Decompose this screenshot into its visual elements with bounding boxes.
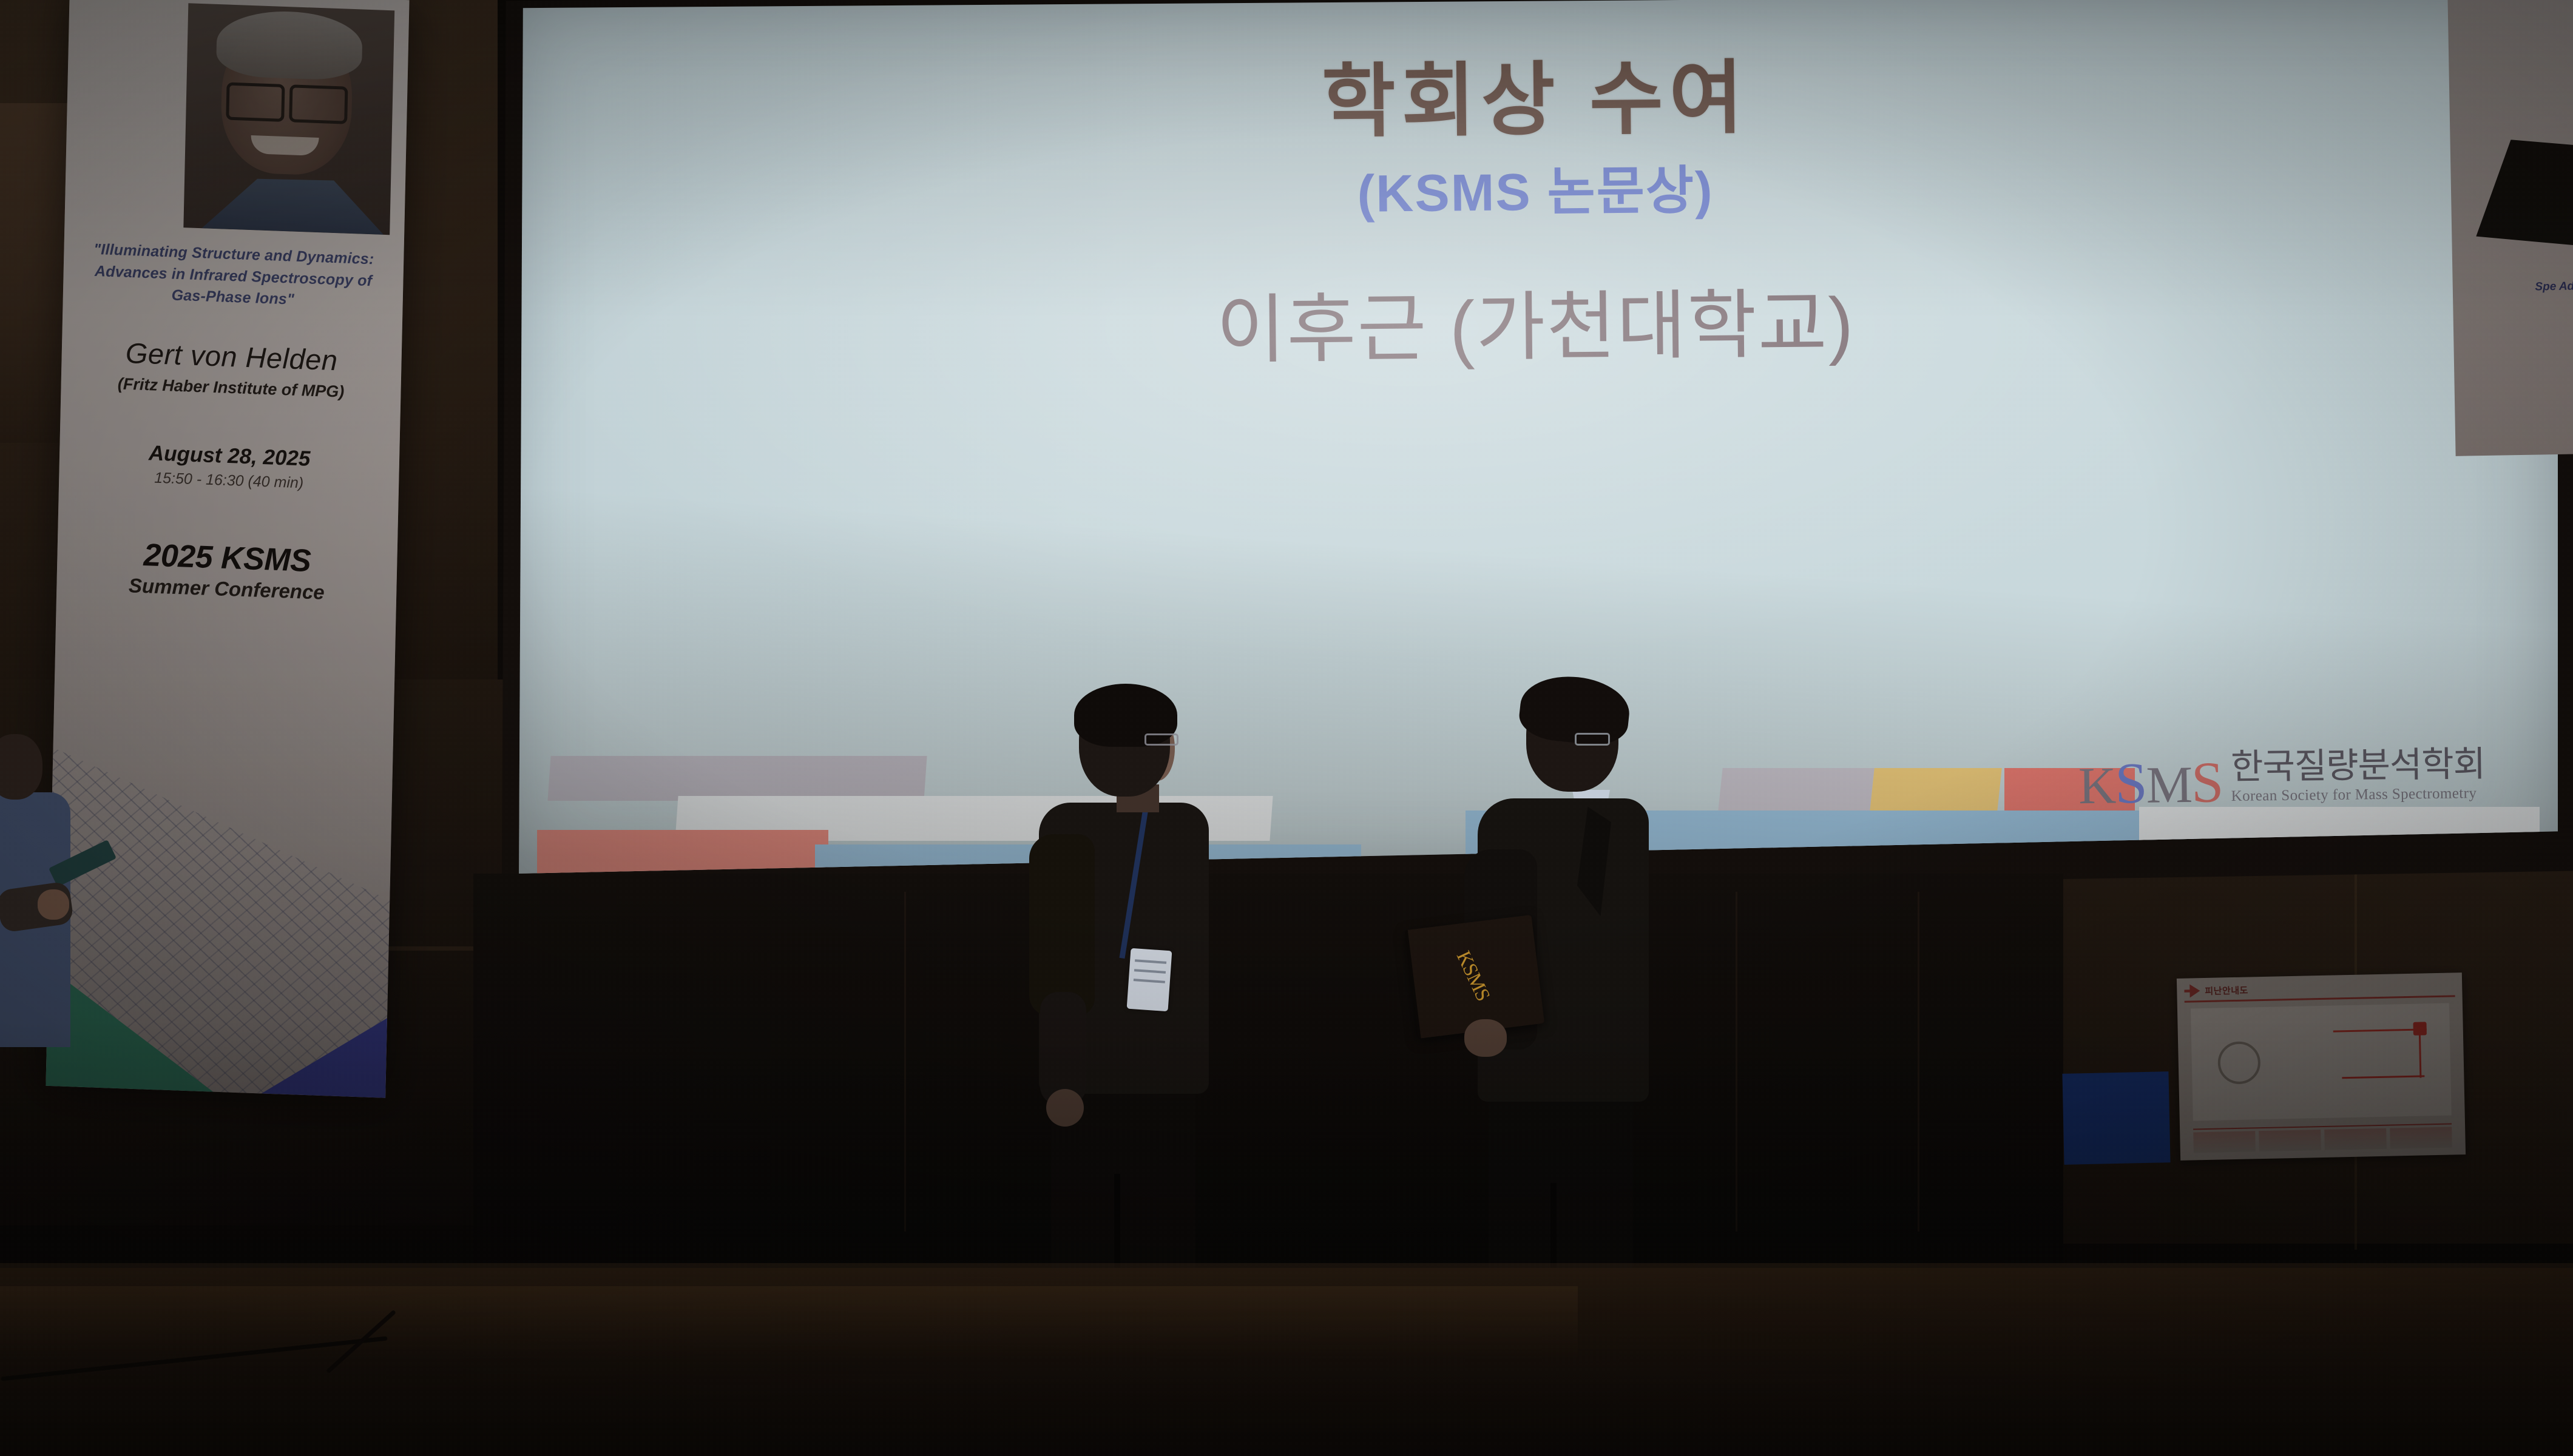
- presenter-badge: [1127, 948, 1172, 1011]
- deco-block-grey: [547, 756, 927, 801]
- presenter-sleeve: [1029, 834, 1095, 1016]
- curtain-seam-4: [1918, 892, 1919, 1232]
- evacuation-map-sign: 피난안내도: [2177, 972, 2466, 1161]
- evacuation-sign-title: 피난안내도: [2205, 983, 2248, 997]
- right-banner-photo: [2475, 138, 2573, 249]
- you-are-here-marker: [2413, 1022, 2427, 1035]
- presenter-glasses-icon: [1144, 733, 1178, 746]
- presenter-forearm: [1040, 992, 1086, 1105]
- award-plaque-text: KSMS: [1452, 948, 1494, 1004]
- escape-route-segment-2: [2419, 1028, 2422, 1077]
- slide-recipient-name: 이후근 (가천대학교): [513, 256, 2558, 385]
- legend-column: [2193, 1131, 2256, 1153]
- ksms-letter-s2: S: [2191, 749, 2223, 815]
- speaker-banner-left: "Illuminating Structure and Dynamics: Ad…: [46, 0, 409, 1098]
- floor-reflection: [0, 1286, 1578, 1359]
- legend-column: [2324, 1128, 2387, 1150]
- audience-head: [0, 734, 42, 800]
- ksms-logo-mark: KSMS: [2078, 755, 2222, 811]
- award-plaque: KSMS: [1405, 915, 1544, 1039]
- ksms-letter-s1: S: [2114, 750, 2146, 815]
- legend-column: [2390, 1127, 2452, 1149]
- stage-backdrop: [473, 874, 2063, 1298]
- right-banner-text: Spe Add: [2484, 278, 2573, 297]
- slide-deco-bottom-left: [513, 727, 1362, 874]
- speaker-banner-right: Spe Add: [2447, 0, 2573, 456]
- presenter-hand: [1046, 1089, 1084, 1127]
- slide-title: 학회상 수여: [513, 25, 2558, 161]
- escape-route-segment-1: [2333, 1028, 2426, 1032]
- ksms-logo: KSMS 한국질량분석학회 Korean Society for Mass Sp…: [2078, 747, 2485, 811]
- deco-block-grey-right: [1718, 768, 1874, 811]
- legend-column: [2259, 1130, 2321, 1151]
- banner-shadow-overlay: [46, 0, 409, 1098]
- escape-route-segment-3: [2342, 1076, 2424, 1079]
- evacuation-floor-plan: [2191, 1003, 2452, 1121]
- curtain-seam-3: [1736, 892, 1737, 1232]
- curtain-seam-1: [904, 892, 906, 1232]
- ksms-letter-m: M: [2146, 755, 2192, 814]
- exit-running-icon: [2184, 984, 2200, 998]
- recipient-hand: [1464, 1019, 1507, 1057]
- evacuation-sign-header: 피난안내도: [2184, 979, 2455, 1002]
- ksms-english-name: Korean Society for Mass Spectrometry: [2231, 785, 2485, 805]
- ksms-logo-wordmark: 한국질량분석학회 Korean Society for Mass Spectro…: [2231, 747, 2486, 805]
- blue-wall-placard: [2062, 1071, 2170, 1165]
- ksms-korean-name: 한국질량분석학회: [2231, 747, 2486, 785]
- ksms-letter-k: K: [2078, 756, 2115, 815]
- audience-hand: [38, 889, 69, 920]
- conference-hall-scene: 학회상 수여 (KSMS 논문상) 이후근 (가천대학교) KSMS 한국질량분…: [0, 0, 2573, 1456]
- deco-block-yellow-right: [1870, 768, 2002, 812]
- floorplan-hall-outline: [2217, 1041, 2260, 1084]
- audience-member-person: [0, 734, 91, 1050]
- evacuation-sign-legend: [2193, 1124, 2452, 1156]
- deco-block-red: [537, 830, 828, 874]
- recipient-glasses-icon: [1575, 733, 1610, 746]
